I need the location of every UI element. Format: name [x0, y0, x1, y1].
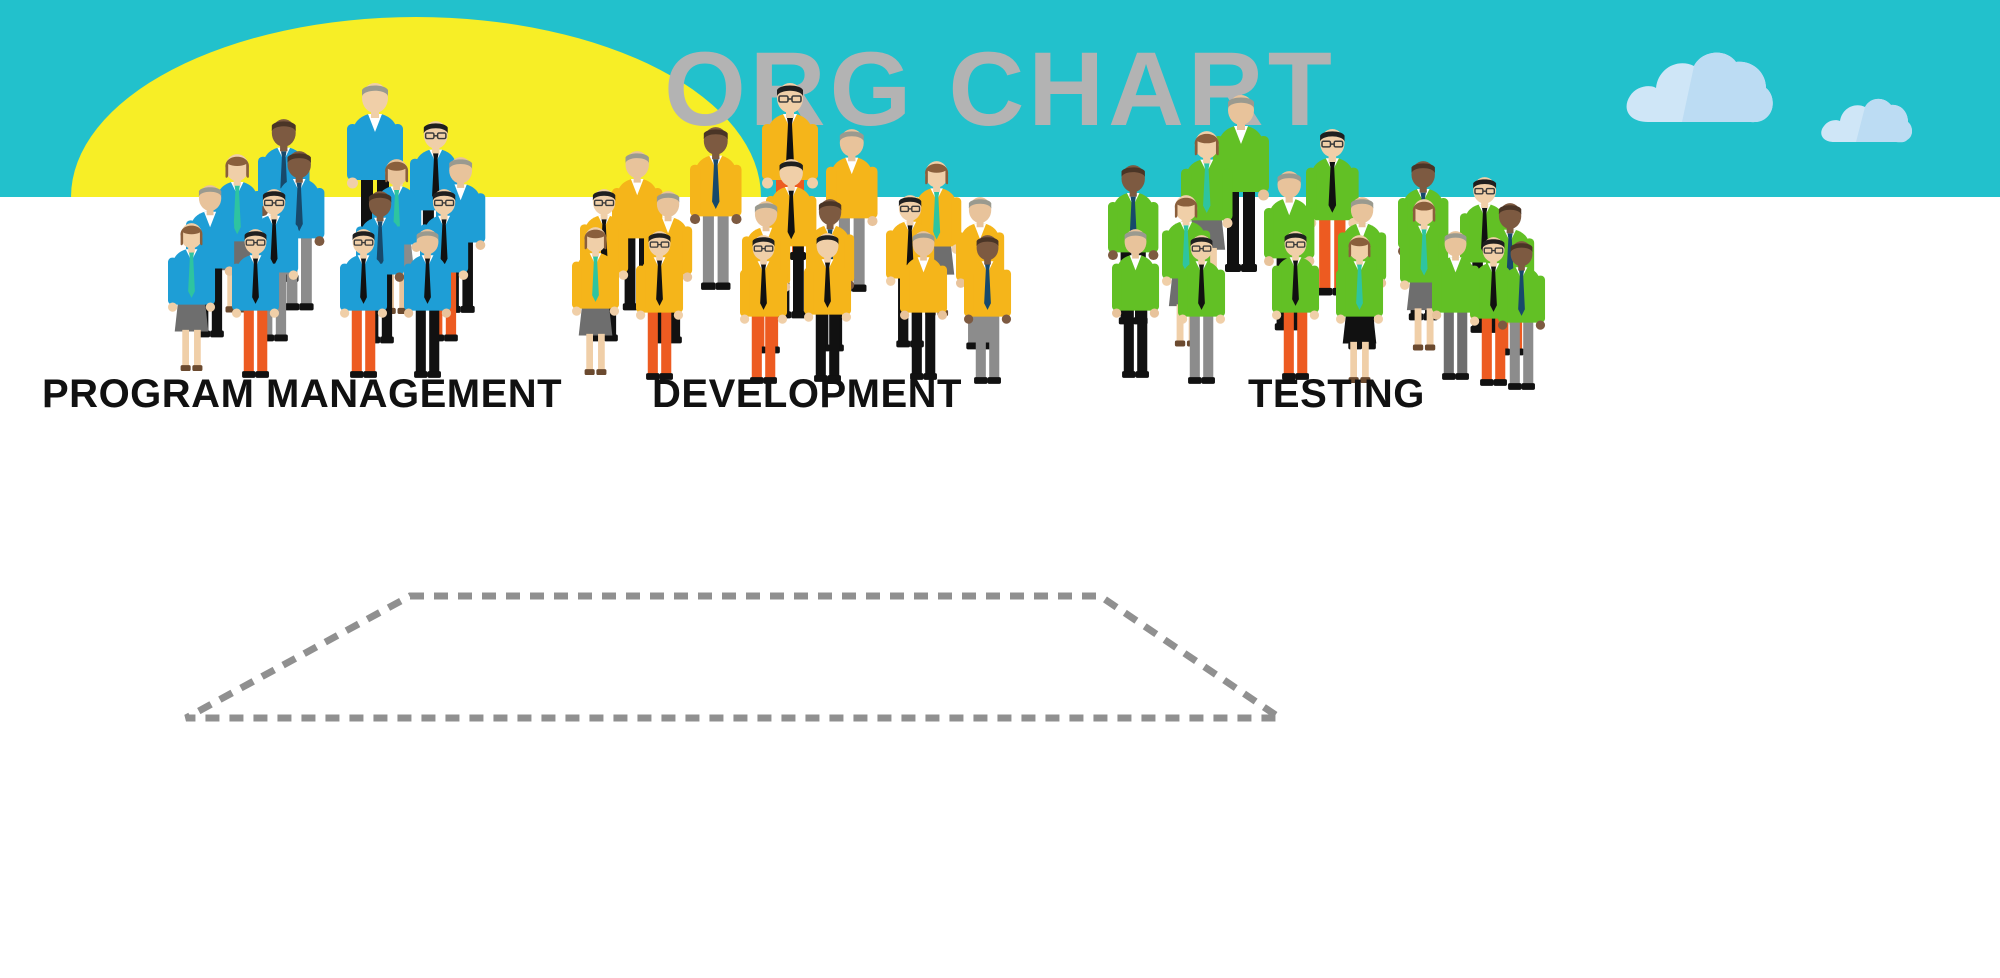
group-label-testing: TESTING: [1248, 372, 1425, 417]
org-chart-scene: ORG CHART PROGRAM MANAGEMENT DEVELOPMENT…: [0, 0, 2000, 978]
group-label-development: DEVELOPMENT: [652, 372, 962, 417]
person-figure: [690, 127, 742, 290]
dashed-stage-platform: [170, 590, 1300, 730]
group-label-program-management: PROGRAM MANAGEMENT: [42, 372, 562, 417]
